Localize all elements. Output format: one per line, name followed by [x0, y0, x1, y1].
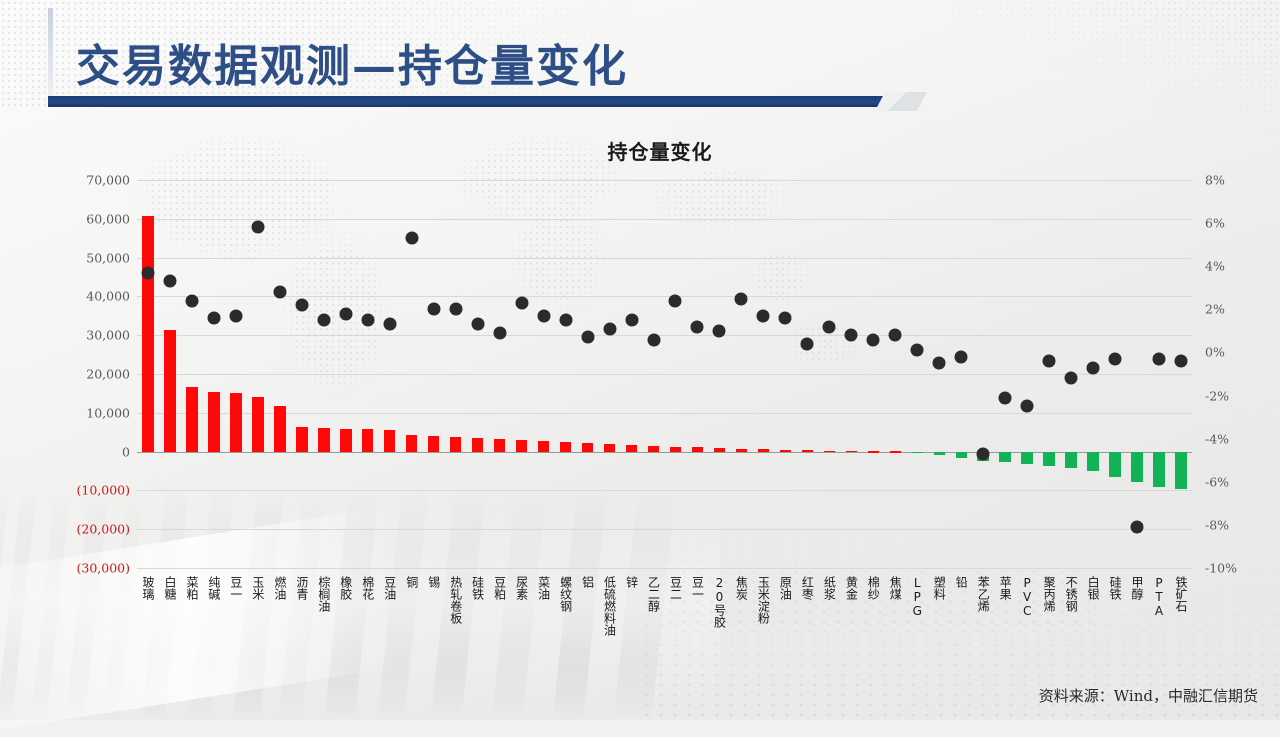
x-axis-label: 焦煤 — [889, 576, 901, 600]
bar — [846, 451, 857, 453]
gridline — [137, 490, 1192, 491]
gridline — [137, 258, 1192, 259]
bar — [1021, 452, 1032, 464]
bar — [274, 406, 285, 451]
gridline — [137, 335, 1192, 336]
y-axis-left-tick-label: 0 — [40, 444, 130, 459]
bar — [956, 452, 967, 458]
bar — [824, 451, 835, 453]
x-axis-label: 甲醇 — [1131, 576, 1143, 600]
scatter-point — [933, 357, 946, 370]
bar — [252, 397, 263, 452]
x-axis-label: 硅铁 — [472, 576, 484, 600]
scatter-point — [603, 322, 616, 335]
x-axis-label: 苯乙烯 — [977, 576, 989, 612]
x-axis-label: 原油 — [779, 576, 791, 600]
bar — [692, 447, 703, 451]
bar — [538, 441, 549, 451]
scatter-point — [317, 314, 330, 327]
scatter-point — [999, 391, 1012, 404]
x-axis-label: 燃油 — [274, 576, 286, 600]
x-axis-label: 聚丙烯 — [1043, 576, 1055, 612]
x-axis-label: 菜油 — [538, 576, 550, 600]
x-axis-label: 玉米 — [252, 576, 264, 600]
title-underline-bar — [48, 96, 906, 107]
scatter-point — [251, 221, 264, 234]
x-axis-label: PVC — [1021, 576, 1033, 618]
scatter-point — [537, 309, 550, 322]
scatter-point — [383, 318, 396, 331]
bar — [582, 443, 593, 452]
title-left-accent-bar — [48, 8, 53, 98]
gridline — [137, 413, 1192, 414]
x-axis-label: 塑料 — [933, 576, 945, 600]
bar — [384, 430, 395, 451]
bar — [230, 393, 241, 451]
x-axis-label: 菜粕 — [186, 576, 198, 600]
gridline — [137, 452, 1192, 453]
bar — [142, 216, 153, 451]
scatter-point — [735, 292, 748, 305]
bar — [626, 445, 637, 452]
x-axis-label: 玻璃 — [142, 576, 154, 600]
scatter-point — [955, 350, 968, 363]
bar — [318, 428, 329, 452]
bar — [714, 448, 725, 451]
x-axis-label: 螺纹钢 — [560, 576, 572, 612]
title-underline-tail — [875, 92, 927, 111]
y-axis-left-tick-label: 70,000 — [40, 173, 130, 188]
gridline — [137, 296, 1192, 297]
source-note: 资料来源：Wind，中融汇信期货 — [1039, 685, 1258, 706]
gridline — [137, 568, 1192, 569]
scatter-point — [339, 307, 352, 320]
scatter-point — [713, 324, 726, 337]
slide-header: 交易数据观测—持仓量变化 — [0, 0, 1280, 112]
bar — [494, 439, 505, 452]
x-axis-label: 豆二 — [669, 576, 681, 600]
scatter-point — [1131, 521, 1144, 534]
scatter-point — [779, 311, 792, 324]
gridline — [137, 374, 1192, 375]
scatter-point — [493, 327, 506, 340]
scatter-point — [405, 232, 418, 245]
y-axis-right-tick-label: -2% — [1205, 388, 1275, 403]
scatter-point — [559, 314, 572, 327]
plot-region: 70,00060,00050,00040,00030,00020,00010,0… — [137, 180, 1192, 568]
scatter-point — [229, 309, 242, 322]
page-title: 交易数据观测—持仓量变化 — [76, 30, 628, 94]
scatter-point — [273, 286, 286, 299]
scatter-point — [449, 303, 462, 316]
x-axis-label: 纸浆 — [823, 576, 835, 600]
y-axis-left-tick-label: (10,000) — [40, 483, 130, 498]
gridline — [137, 180, 1192, 181]
x-axis-label: 橡胶 — [340, 576, 352, 600]
x-axis-label: 铜 — [406, 576, 418, 588]
chart-title: 持仓量变化 — [0, 136, 1280, 165]
scatter-point — [515, 296, 528, 309]
scatter-point — [163, 275, 176, 288]
bar — [1131, 452, 1142, 483]
bar — [428, 436, 439, 451]
bar — [890, 451, 901, 453]
bar — [802, 450, 813, 452]
x-axis-label: 红枣 — [801, 576, 813, 600]
scatter-point — [911, 344, 924, 357]
scatter-point — [1109, 352, 1122, 365]
x-axis-label: 焦炭 — [735, 576, 747, 600]
x-axis-label: 不锈钢 — [1065, 576, 1077, 612]
bar — [934, 452, 945, 455]
x-axis-label: 锡 — [428, 576, 440, 588]
bar — [1109, 452, 1120, 478]
bar — [670, 447, 681, 452]
chart-area: 持仓量变化 70,00060,00050,00040,00030,00020,0… — [0, 112, 1280, 720]
y-axis-left-tick-label: 30,000 — [40, 328, 130, 343]
scatter-point — [757, 309, 770, 322]
scatter-point — [867, 333, 880, 346]
y-axis-left-tick-label: 40,000 — [40, 289, 130, 304]
bar — [296, 427, 307, 451]
x-axis-label: 豆一 — [691, 576, 703, 600]
scatter-point — [1087, 361, 1100, 374]
bar — [1065, 452, 1076, 469]
x-axis-label: 锌 — [626, 576, 638, 588]
y-axis-right-tick-label: 8% — [1205, 173, 1275, 188]
y-axis-left-tick-label: 10,000 — [40, 405, 130, 420]
scatter-point — [889, 329, 902, 342]
bar — [780, 450, 791, 452]
x-axis-label: 白糖 — [164, 576, 176, 600]
scatter-point — [207, 311, 220, 324]
scatter-point — [141, 266, 154, 279]
scatter-point — [823, 320, 836, 333]
x-axis-label: 铁矿石 — [1175, 576, 1187, 612]
x-axis-label: 低硫燃料油 — [604, 576, 616, 636]
scatter-point — [361, 314, 374, 327]
bar — [340, 429, 351, 452]
y-axis-left-tick-label: 20,000 — [40, 367, 130, 382]
scatter-point — [801, 337, 814, 350]
x-axis-label: 棉花 — [362, 576, 374, 600]
x-axis-label: LPG — [911, 576, 923, 618]
x-axis-label: 黄金 — [845, 576, 857, 600]
x-axis-label: 纯碱 — [208, 576, 220, 600]
scatter-point — [471, 318, 484, 331]
x-axis-label: 豆油 — [384, 576, 396, 600]
scatter-point — [625, 314, 638, 327]
scatter-point — [1153, 352, 1166, 365]
y-axis-left-tick-label: (30,000) — [40, 561, 130, 576]
bar — [1153, 452, 1164, 488]
scatter-point — [1043, 355, 1056, 368]
scatter-point — [977, 447, 990, 460]
x-axis-label: 20号胶 — [713, 576, 725, 628]
scatter-point — [691, 320, 704, 333]
bar — [912, 452, 923, 454]
y-axis-right-tick-label: -10% — [1205, 561, 1275, 576]
scatter-point — [1065, 372, 1078, 385]
x-axis-label: 乙二醇 — [648, 576, 660, 612]
y-axis-right-tick-label: -6% — [1205, 474, 1275, 489]
x-axis-label: 铅 — [955, 576, 967, 588]
bar — [406, 435, 417, 452]
bar — [560, 442, 571, 451]
x-axis-label: 沥青 — [296, 576, 308, 600]
scatter-point — [647, 333, 660, 346]
bar — [736, 449, 747, 452]
x-axis-label: 硅铁 — [1109, 576, 1121, 600]
bar — [208, 392, 219, 452]
bar — [999, 452, 1010, 462]
x-axis-label: 棕榈油 — [318, 576, 330, 612]
scatter-point — [1175, 355, 1188, 368]
bar — [186, 387, 197, 451]
bar — [868, 451, 879, 453]
y-axis-right-tick-label: -8% — [1205, 517, 1275, 532]
bar — [472, 438, 483, 452]
x-axis-label: PTA — [1153, 576, 1165, 618]
bar — [604, 444, 615, 452]
y-axis-right-tick-label: -4% — [1205, 431, 1275, 446]
x-axis-label: 热轧卷板 — [450, 576, 462, 624]
scatter-point — [669, 294, 682, 307]
y-axis-right-tick-label: 6% — [1205, 216, 1275, 231]
y-axis-right-tick-label: 2% — [1205, 302, 1275, 317]
bar — [362, 429, 373, 451]
gridline — [137, 219, 1192, 220]
x-axis-label: 白银 — [1087, 576, 1099, 600]
bar — [1043, 452, 1054, 466]
x-axis-label: 棉纱 — [867, 576, 879, 600]
gridline — [137, 529, 1192, 530]
y-axis-left-tick-label: 50,000 — [40, 250, 130, 265]
y-axis-right-tick-label: 4% — [1205, 259, 1275, 274]
x-axis-label: 豆粕 — [494, 576, 506, 600]
scatter-point — [295, 299, 308, 312]
bar — [516, 440, 527, 452]
scatter-point — [1021, 400, 1034, 413]
x-axis-label: 苹果 — [999, 576, 1011, 600]
scatter-point — [845, 329, 858, 342]
x-axis-label: 玉米淀粉 — [757, 576, 769, 624]
y-axis-left-tick-label: 60,000 — [40, 211, 130, 226]
scatter-point — [427, 303, 440, 316]
bar — [1087, 452, 1098, 472]
bar — [1175, 452, 1186, 490]
y-axis-left-tick-label: (20,000) — [40, 522, 130, 537]
x-axis-label: 豆一 — [230, 576, 242, 600]
x-axis-label: 铝 — [582, 576, 594, 588]
scatter-point — [185, 294, 198, 307]
scatter-point — [581, 331, 594, 344]
y-axis-right-tick-label: 0% — [1205, 345, 1275, 360]
x-axis-label: 尿素 — [516, 576, 528, 600]
bar — [450, 437, 461, 452]
bar — [758, 449, 769, 451]
bar — [164, 330, 175, 452]
bar — [648, 446, 659, 452]
